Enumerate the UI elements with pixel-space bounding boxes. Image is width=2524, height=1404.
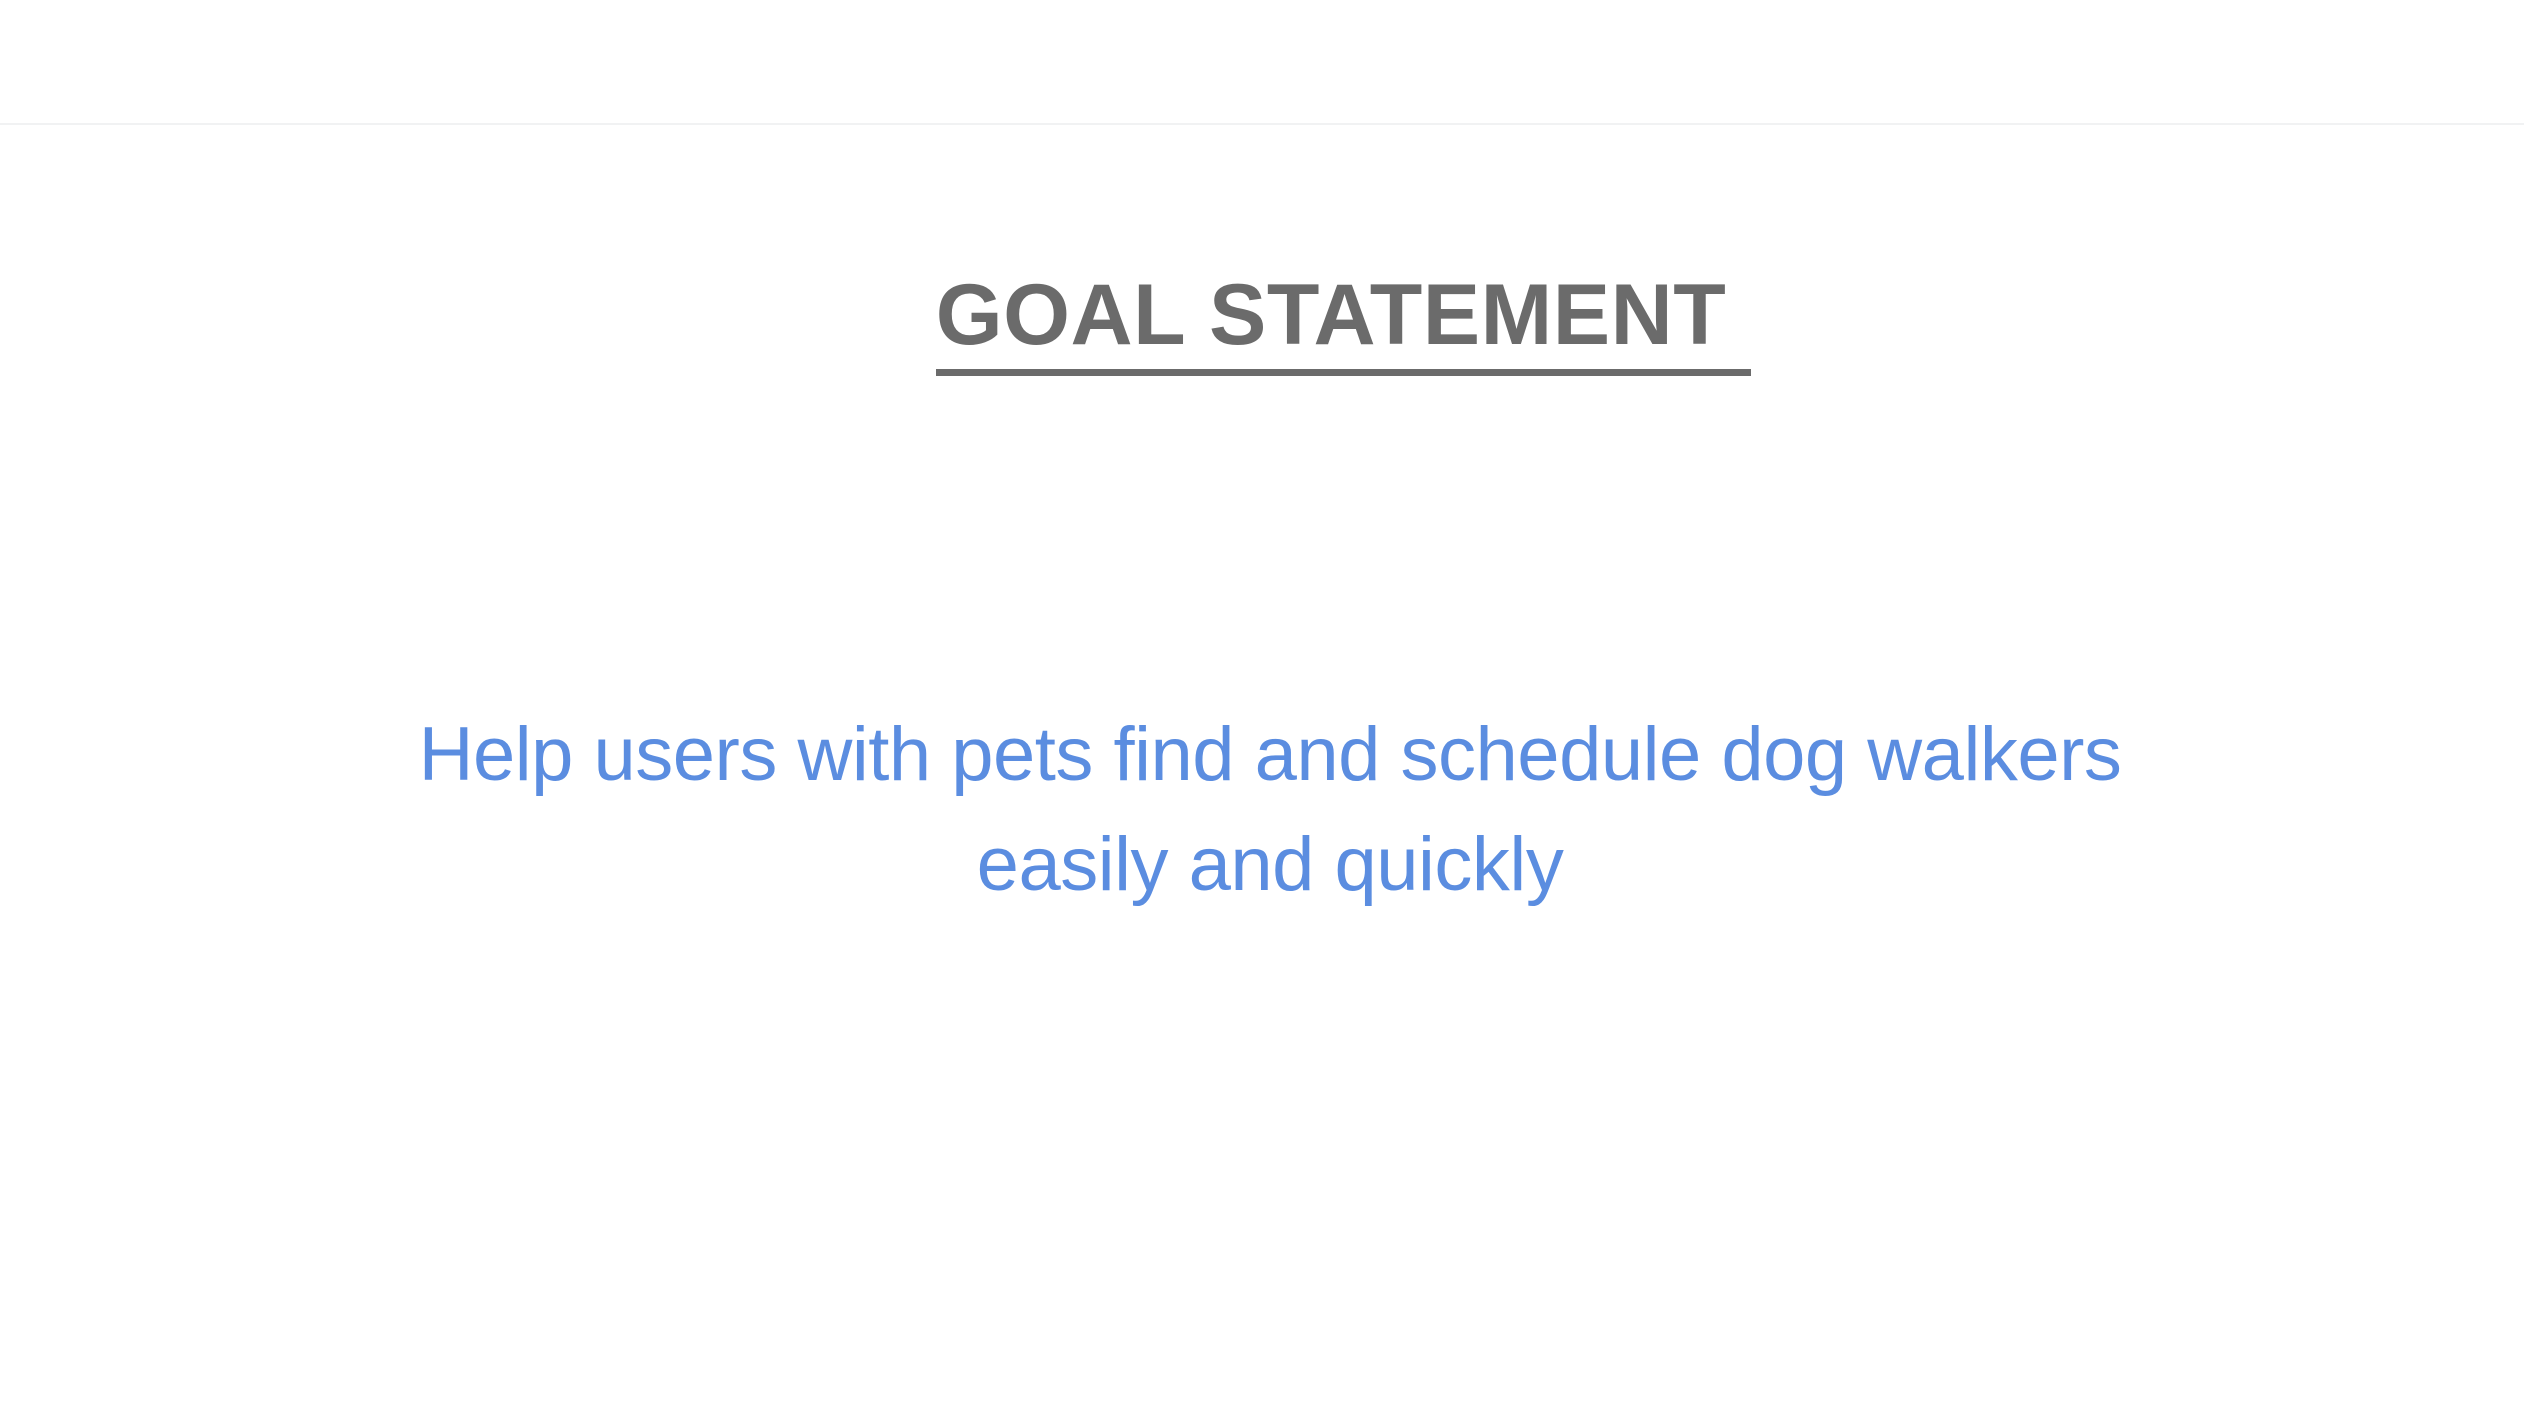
goal-statement-body: Help users with pets find and schedule d… [0, 700, 2524, 920]
goal-statement-heading-text: GOAL STATEMENT [936, 267, 1751, 376]
goal-statement-slide: GOAL STATEMENT Help users with pets find… [0, 0, 2524, 1404]
goal-statement-heading: GOAL STATEMENT [0, 186, 2524, 444]
goal-statement-line-2: easily and quickly [0, 810, 2524, 920]
slide-content: GOAL STATEMENT Help users with pets find… [0, 0, 2524, 1404]
goal-statement-line-1: Help users with pets find and schedule d… [0, 700, 2524, 810]
